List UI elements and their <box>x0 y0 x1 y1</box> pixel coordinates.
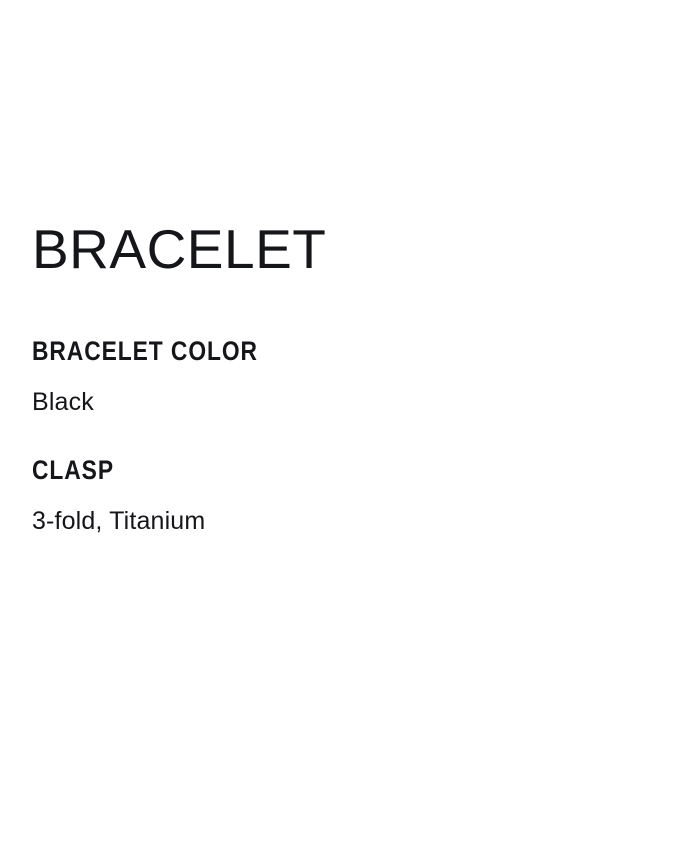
spec-label-bracelet-color: BRACELET COLOR <box>32 338 258 365</box>
spec-label-clasp: CLASP <box>32 457 114 484</box>
spec-value-bracelet-color: Black <box>32 390 700 415</box>
bracelet-spec-panel: BRACELET BRACELET COLOR Black CLASP 3-fo… <box>0 0 700 850</box>
spec-group-clasp: CLASP 3-fold, Titanium <box>32 457 700 534</box>
spec-group-bracelet-color: BRACELET COLOR Black <box>32 338 700 415</box>
spec-value-clasp: 3-fold, Titanium <box>32 509 700 534</box>
section-title: BRACELET <box>32 222 700 277</box>
